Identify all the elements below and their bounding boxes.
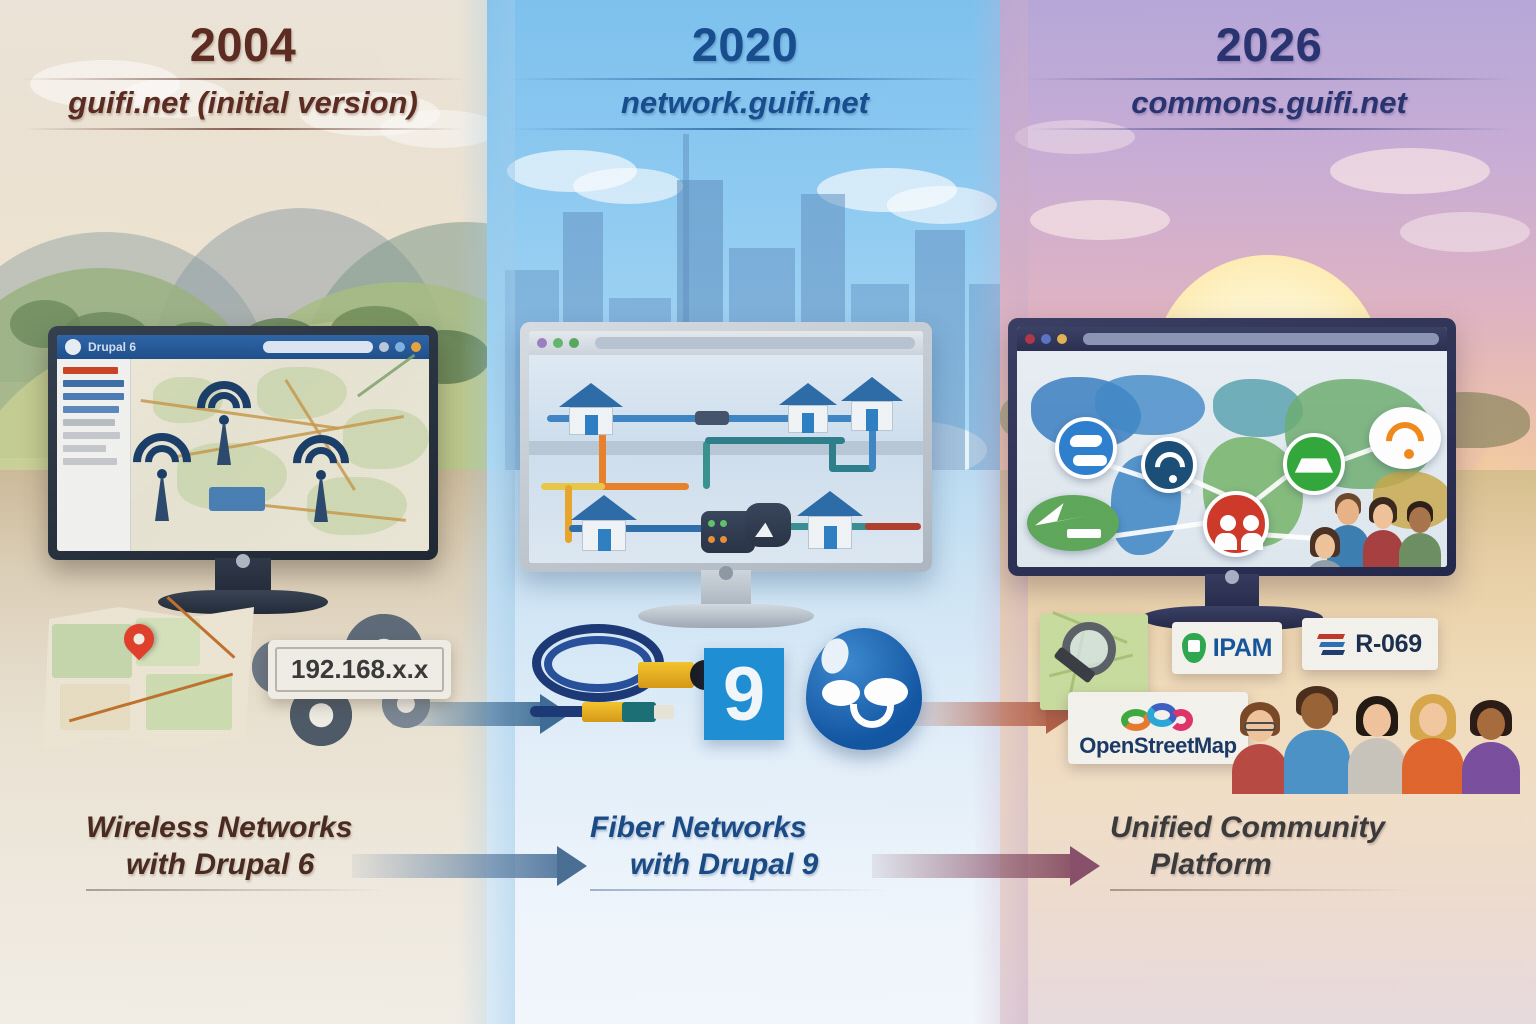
browser-titlebar: Drupal 6 [57, 335, 429, 359]
caption-2020: Fiber Networks with Drupal 9 [590, 810, 890, 891]
community-person [1402, 694, 1464, 794]
caption-divider [1110, 889, 1410, 891]
year-label: 2020 [495, 20, 995, 71]
tr069-label: R-069 [1355, 630, 1422, 659]
domain-label: network.guifi.net [495, 85, 995, 126]
year-label: 2026 [1010, 20, 1528, 71]
power-led [719, 566, 733, 580]
caption-line-1: Unified Community [1110, 810, 1410, 847]
fiber-tip [654, 705, 674, 719]
window-close-icon[interactable] [411, 342, 421, 352]
community-person [1305, 527, 1345, 567]
arrow-head [557, 846, 587, 886]
address-bar[interactable] [595, 337, 915, 349]
fiber-cable [705, 437, 845, 444]
openstreetmap-logo-icon [1121, 701, 1195, 731]
fiber-network-diagram[interactable] [529, 355, 923, 563]
domain-label: commons.guifi.net [1010, 85, 1528, 126]
ipam-label: IPAM [1213, 634, 1272, 663]
caption-line-2: Platform [1110, 847, 1410, 884]
building [969, 284, 1000, 480]
browser-titlebar [529, 331, 923, 355]
diamond-node-icon[interactable] [1283, 433, 1345, 495]
sidebar-row [63, 393, 124, 400]
cloud [573, 168, 683, 204]
ip-address-label: 192.168.x.x [275, 647, 444, 692]
browser-window-commons[interactable] [1017, 327, 1447, 567]
window-close-icon[interactable] [1025, 334, 1035, 344]
arrow-head [1070, 846, 1100, 886]
map-field [52, 624, 132, 678]
cloud [887, 186, 997, 224]
header-divider [510, 128, 980, 130]
monitor-2020 [520, 322, 932, 572]
power-led [1225, 570, 1239, 584]
header-divider [22, 78, 464, 80]
fiber-cable [865, 523, 921, 530]
cloud [1030, 200, 1170, 240]
community-person [1232, 702, 1288, 794]
ip-address-plate: 192.168.x.x [268, 640, 451, 699]
browser-title-label: Drupal 6 [88, 340, 136, 354]
browser-titlebar [1017, 327, 1447, 351]
wifi-orange-node-icon[interactable] [1369, 407, 1441, 469]
header-2026: 2026 commons.guifi.net [1010, 20, 1528, 130]
window-maximize-icon[interactable] [395, 342, 405, 352]
fiber-connector-yellow [638, 662, 694, 688]
caption-line-2: with Drupal 6 [86, 847, 386, 884]
monitor-2026 [1008, 318, 1456, 576]
sidebar-row [63, 432, 120, 439]
arrow-2004-to-2020-bottom [352, 846, 587, 886]
server-rack-icon [745, 503, 791, 547]
world-map-network[interactable] [1017, 351, 1447, 567]
monitor-2004: Drupal 6 [48, 326, 438, 560]
wifi-node-icon[interactable] [1141, 437, 1197, 493]
arrow-shaft [872, 854, 1074, 878]
window-maximize-icon[interactable] [1057, 334, 1067, 344]
caption-2026: Unified Community Platform [1110, 810, 1410, 891]
window-maximize-icon[interactable] [569, 338, 579, 348]
sidebar-row [63, 419, 115, 426]
address-bar[interactable] [1083, 333, 1439, 345]
community-person [1399, 501, 1441, 567]
droplet-smile [850, 704, 894, 728]
community-person [1363, 497, 1403, 567]
fiber-cable [599, 483, 689, 490]
browser-window-fiber[interactable] [529, 331, 923, 563]
arrow-shaft [908, 702, 1050, 726]
drupal-logo-icon [65, 339, 81, 355]
map-road [357, 354, 415, 398]
caption-divider [86, 889, 386, 891]
server-node-icon[interactable] [1055, 417, 1117, 479]
users-node-icon[interactable] [1203, 491, 1269, 557]
sidebar-alert [63, 367, 118, 374]
community-person [1284, 686, 1350, 794]
fiber-cable [703, 441, 710, 489]
header-divider [1026, 128, 1513, 130]
monitor-bezel: Drupal 6 [48, 326, 438, 560]
house-icon [571, 495, 637, 551]
node-map-canvas[interactable] [57, 359, 429, 551]
network-switch [695, 411, 729, 425]
house-icon [779, 383, 837, 433]
window-close-icon[interactable] [537, 338, 547, 348]
caption-divider [590, 889, 890, 891]
sidebar-row [63, 406, 119, 413]
tr069-badge: R-069 [1302, 618, 1438, 670]
community-person [1348, 696, 1406, 794]
caption-line-1: Wireless Networks [86, 810, 386, 847]
map-region [257, 367, 347, 419]
window-minimize-icon[interactable] [379, 342, 389, 352]
drupal-version-tile: 9 [704, 648, 784, 740]
window-minimize-icon[interactable] [1041, 334, 1051, 344]
power-led [236, 554, 250, 568]
cloud [1330, 148, 1490, 194]
header-divider [510, 78, 980, 80]
caption-2004: Wireless Networks with Drupal 6 [86, 810, 386, 891]
openstreetmap-badge: OpenStreetMap [1068, 692, 1248, 764]
monitor-bezel [1008, 318, 1456, 576]
paper-map-prop [36, 604, 254, 754]
infographic-canvas: Drupal 6 [0, 0, 1536, 1024]
year-label: 2004 [8, 20, 478, 71]
sidebar-row [63, 445, 106, 452]
eyeglasses-icon [1244, 722, 1276, 731]
header-2004: 2004 guifi.net (initial version) [8, 20, 478, 130]
ipam-pin-icon [1182, 633, 1206, 663]
fiber-connector-yellow [582, 702, 626, 722]
fiber-coil [544, 636, 652, 692]
droplet-eye [864, 678, 908, 706]
header-2020: 2020 network.guifi.net [495, 20, 995, 130]
header-divider [22, 128, 464, 130]
domain-label: guifi.net (initial version) [8, 85, 478, 126]
network-device [209, 487, 265, 511]
drupal-sidebar[interactable] [57, 359, 131, 551]
openstreetmap-label: OpenStreetMap [1079, 733, 1236, 759]
window-minimize-icon[interactable] [553, 338, 563, 348]
ipam-badge: IPAM [1172, 622, 1282, 674]
house-icon [797, 491, 863, 549]
map-field [146, 674, 232, 730]
address-bar[interactable] [263, 341, 373, 353]
house-icon [559, 383, 623, 435]
tr069-flag-icon [1318, 631, 1348, 657]
arrow-2020-to-2026-bottom [872, 846, 1100, 886]
caption-line-1: Fiber Networks [590, 810, 890, 847]
browser-window-drupal6[interactable]: Drupal 6 [57, 335, 429, 551]
droplet-eye [822, 680, 860, 706]
monitor-bezel [520, 322, 932, 572]
fields-node-icon[interactable] [1027, 495, 1119, 551]
caption-line-2: with Drupal 9 [590, 847, 890, 884]
community-people-group [1232, 676, 1532, 794]
fiber-cable-prop [526, 610, 716, 760]
continent-north-america [1095, 375, 1205, 435]
community-person [1462, 700, 1520, 794]
house-icon [841, 377, 903, 431]
sidebar-row [63, 458, 117, 465]
cloud [1400, 212, 1530, 252]
fiber-connector-teal [622, 702, 656, 722]
sidebar-row [63, 380, 124, 387]
header-divider [1026, 78, 1513, 80]
fiber-cable [541, 483, 605, 490]
